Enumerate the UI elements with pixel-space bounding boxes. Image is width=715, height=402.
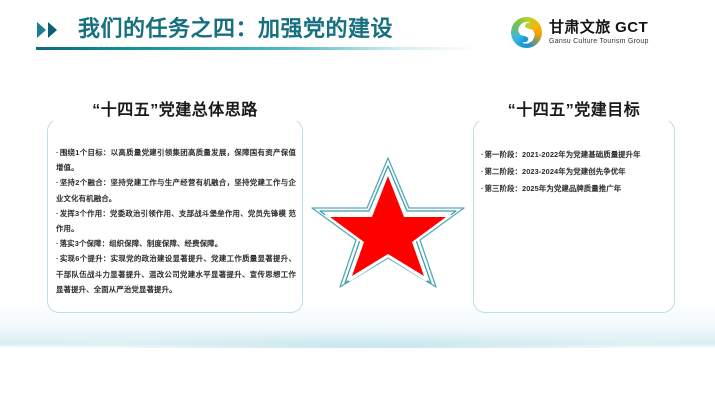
bullet-marker: · xyxy=(56,178,59,187)
list-item: ·第一阶段：2021-2022年为党建基础质量提升年 xyxy=(481,146,671,163)
chevron-right-icon-2 xyxy=(48,22,57,38)
brand-logo-text: 甘肃文旅 GCT Gansu Culture Tourism Group xyxy=(549,20,649,46)
list-item-text: 落实3个保障：组织保障、制度保障、经费保障。 xyxy=(60,239,223,248)
right-card-bullet-list: ·第一阶段：2021-2022年为党建基础质量提升年 ·第二阶段：2023-20… xyxy=(481,146,671,197)
double-chevron-right-icon xyxy=(37,21,71,38)
bullet-marker: · xyxy=(481,167,484,176)
page-title: 我们的任务之四：加强党的建设 xyxy=(78,14,393,44)
logo-ring xyxy=(511,17,542,48)
list-item: ·实现6个提升：实现党的政治建设显著提升、党建工作质量显著提升、 干部队伍战斗力… xyxy=(56,251,296,297)
star-red-fill xyxy=(330,176,446,276)
list-item-text: 坚持2个融合：坚持党建工作与生产经营有机融合，坚持党建工作与企业文化有机融合。 xyxy=(56,178,296,202)
five-pointed-star-graphic xyxy=(306,156,470,288)
bullet-marker: · xyxy=(56,209,59,218)
right-card-heading: “十四五”党建目标 xyxy=(473,101,675,121)
title-underline-rule xyxy=(36,47,481,50)
brand-name-cn: 甘肃文旅 GCT xyxy=(549,20,649,36)
bullet-marker: · xyxy=(56,254,59,263)
list-item-text: 实现6个提升：实现党的政治建设显著提升、党建工作质量显著提升、 干部队伍战斗力显… xyxy=(56,254,296,293)
chevron-right-icon-1 xyxy=(37,22,46,38)
slide-canvas: 我们的任务之四：加强党的建设 甘肃文旅 GCT Gansu Culture To… xyxy=(0,0,715,402)
slide-header: 我们的任务之四：加强党的建设 甘肃文旅 GCT Gansu Culture To… xyxy=(0,0,715,62)
list-item: ·发挥3个作用：党委政治引领作用、支部战斗堡垒作用、党员先锋模 范作用。 xyxy=(56,206,296,236)
gansu-culture-tourism-logo-icon xyxy=(511,17,542,48)
list-item-text: 围绕1个目标：以高质量党建引领集团高质量发展，保障国有资产保值增值。 xyxy=(56,148,296,172)
list-item-text: 第一阶段：2021-2022年为党建基础质量提升年 xyxy=(485,150,641,159)
bullet-marker: · xyxy=(56,148,59,157)
bullet-marker: · xyxy=(56,239,59,248)
bottom-gradient-band xyxy=(0,318,715,348)
brand-name-en: Gansu Culture Tourism Group xyxy=(549,37,649,46)
list-item: ·落实3个保障：组织保障、制度保障、经费保障。 xyxy=(56,236,296,251)
list-item-text: 第三阶段：2025年为党建品牌质量推广年 xyxy=(485,184,622,193)
brand-logo: 甘肃文旅 GCT Gansu Culture Tourism Group xyxy=(511,17,649,48)
list-item-text: 第二阶段：2023-2024年为党建创先争优年 xyxy=(485,167,626,176)
left-card-heading: “十四五”党建总体思路 xyxy=(47,101,303,121)
list-item: ·围绕1个目标：以高质量党建引领集团高质量发展，保障国有资产保值增值。 xyxy=(56,145,296,175)
bullet-marker: · xyxy=(481,150,484,159)
list-item-text: 发挥3个作用：党委政治引领作用、支部战斗堡垒作用、党员先锋模 范作用。 xyxy=(56,209,296,233)
list-item: ·第二阶段：2023-2024年为党建创先争优年 xyxy=(481,163,671,180)
list-item: ·坚持2个融合：坚持党建工作与生产经营有机融合，坚持党建工作与企业文化有机融合。 xyxy=(56,175,296,205)
left-card-bullet-list: ·围绕1个目标：以高质量党建引领集团高质量发展，保障国有资产保值增值。 ·坚持2… xyxy=(56,145,296,297)
list-item: ·第三阶段：2025年为党建品牌质量推广年 xyxy=(481,180,671,197)
bullet-marker: · xyxy=(481,184,484,193)
